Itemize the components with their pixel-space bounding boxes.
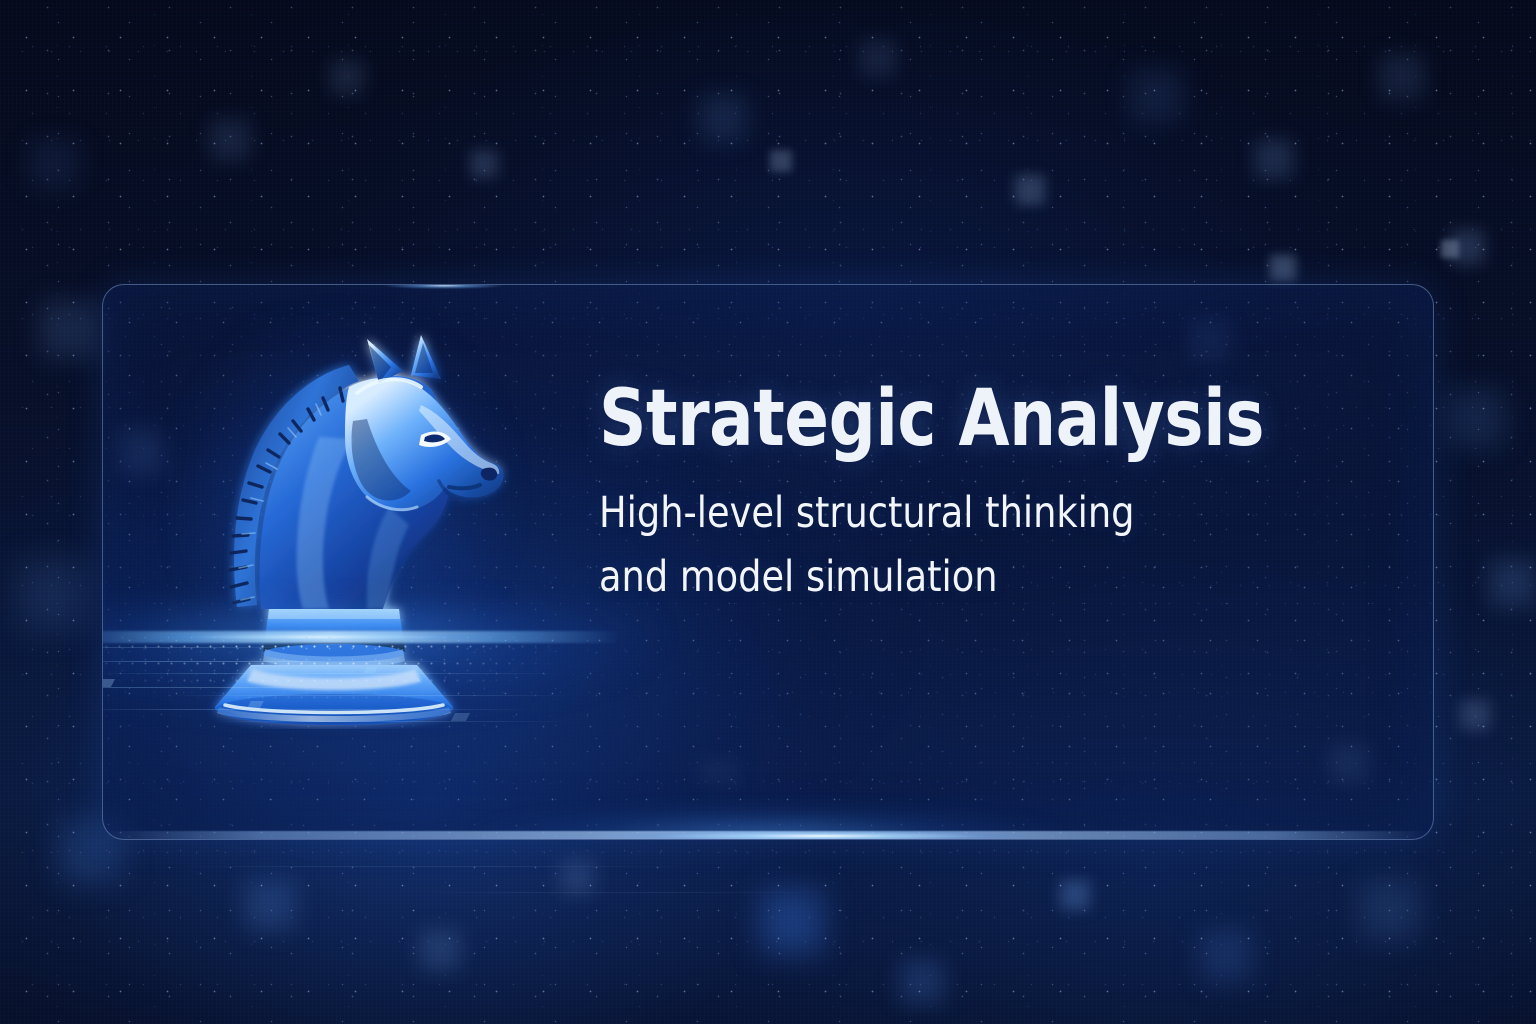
card-bottom-light-streak	[103, 831, 1433, 840]
hero-card: Strategic Analysis High-level structural…	[102, 284, 1434, 840]
subtitle-line-1: High-level structural thinking	[599, 482, 1369, 546]
page-title: Strategic Analysis	[599, 379, 1360, 460]
card-top-border-spark	[384, 284, 504, 289]
page-subtitle: High-level structural thinking and model…	[599, 482, 1369, 609]
subtitle-line-2: and model simulation	[599, 546, 1369, 610]
knight-base-particles	[102, 635, 653, 785]
presentation-slide: Strategic Analysis High-level structural…	[0, 0, 1536, 1024]
chess-knight-illustration	[153, 309, 543, 729]
card-text-block: Strategic Analysis High-level structural…	[599, 379, 1409, 609]
